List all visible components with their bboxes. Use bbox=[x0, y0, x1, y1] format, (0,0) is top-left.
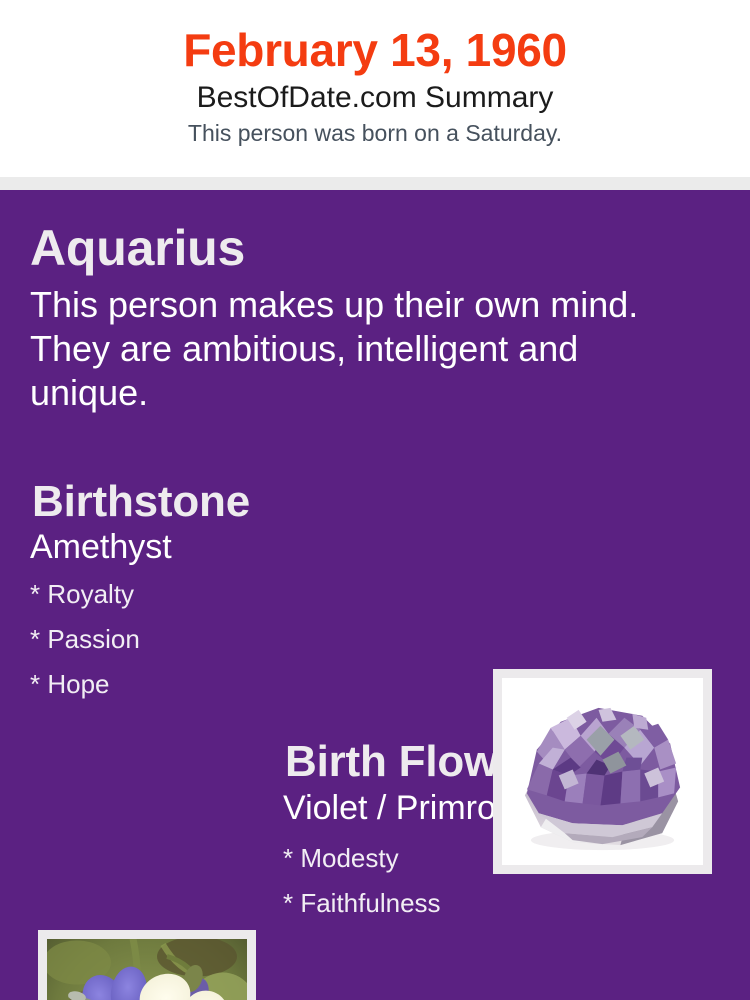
zodiac-sign-name: Aquarius bbox=[30, 223, 710, 273]
birthstone-trait-list: * Royalty * Passion * Hope bbox=[30, 566, 480, 716]
list-item: * Passion bbox=[30, 626, 480, 671]
amethyst-illustration bbox=[502, 678, 703, 865]
birthstone-heading: Birthstone bbox=[32, 480, 480, 524]
violet-primrose-illustration bbox=[47, 939, 247, 1000]
header-divider bbox=[0, 177, 750, 190]
birthstone-name: Amethyst bbox=[30, 524, 480, 566]
list-item: * Royalty bbox=[30, 581, 480, 626]
birth-flower-photo-frame bbox=[38, 930, 256, 1000]
page-title: February 13, 1960 bbox=[0, 0, 750, 74]
birthstone-photo-frame bbox=[493, 669, 712, 874]
card-header: February 13, 1960 BestOfDate.com Summary… bbox=[0, 0, 750, 177]
zodiac-section: Aquarius This person makes up their own … bbox=[30, 223, 710, 415]
birthstone-photo bbox=[502, 678, 703, 865]
amethyst-crystal-icon bbox=[502, 678, 703, 865]
birth-weekday-note: This person was born on a Saturday. bbox=[0, 114, 750, 146]
birth-flower-photo bbox=[47, 939, 247, 1000]
zodiac-description: This person makes up their own mind. The… bbox=[30, 273, 680, 415]
summary-card: February 13, 1960 BestOfDate.com Summary… bbox=[0, 0, 750, 1000]
list-item: * Faithfulness bbox=[283, 890, 723, 935]
list-item: * Hope bbox=[30, 671, 480, 716]
site-name: BestOfDate.com Summary bbox=[0, 74, 750, 114]
content-panel: Aquarius This person makes up their own … bbox=[0, 190, 750, 1000]
birthstone-section: Birthstone Amethyst * Royalty * Passion … bbox=[30, 480, 480, 716]
